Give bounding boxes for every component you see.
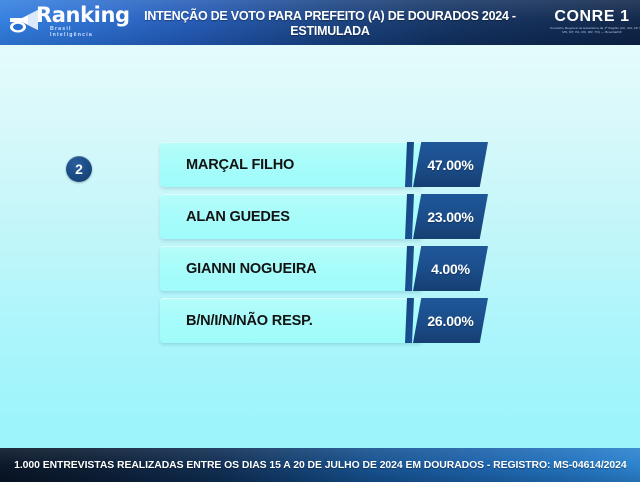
result-row[interactable]: GIANNI NOGUEIRA 4.00%: [160, 246, 488, 291]
page-title: INTENÇÃO DE VOTO PARA PREFEITO (A) DE DO…: [124, 0, 537, 45]
percentage-box: 26.00%: [413, 298, 488, 343]
candidate-name: B/N/I/N/NÃO RESP.: [186, 312, 313, 329]
footer-bar: 1.000 ENTREVISTAS REALIZADAS ENTRE OS DI…: [0, 448, 640, 482]
candidate-label-box: GIANNI NOGUEIRA: [160, 246, 422, 291]
conre-subtitle-line-2: MS, MT, PA, RO, RR, TO) — Brasília/DF: [550, 30, 634, 34]
percentage-box: 23.00%: [413, 194, 488, 239]
poll-result-card: Ranking Brasil Inteligência INTENÇÃO DE …: [0, 0, 640, 482]
logo-tagline-text: Brasil Inteligência: [50, 26, 116, 38]
rank-badge: 2: [66, 156, 92, 182]
candidate-name: MARÇAL FILHO: [186, 156, 294, 173]
percentage-value: 23.00%: [427, 209, 473, 225]
footer-text: 1.000 ENTREVISTAS REALIZADAS ENTRE OS DI…: [14, 459, 627, 471]
logo-brand-text: Ranking: [36, 5, 130, 26]
candidate-label-box: ALAN GUEDES: [160, 194, 422, 239]
percentage-value: 47.00%: [427, 157, 473, 173]
ranking-logo: Ranking Brasil Inteligência: [8, 6, 116, 40]
percentage-box: 47.00%: [413, 142, 488, 187]
percentage-value: 26.00%: [427, 313, 473, 329]
percentage-box: 4.00%: [413, 246, 488, 291]
candidate-label-box: B/N/I/N/NÃO RESP.: [160, 298, 422, 343]
percentage-value: 4.00%: [431, 261, 470, 277]
result-row[interactable]: MARÇAL FILHO 47.00%: [160, 142, 488, 187]
candidate-label-box: MARÇAL FILHO: [160, 142, 422, 187]
result-row[interactable]: B/N/I/N/NÃO RESP. 26.00%: [160, 298, 488, 343]
candidate-name: ALAN GUEDES: [186, 208, 290, 225]
results-list: MARÇAL FILHO 47.00% ALAN GUEDES 23.00% G…: [160, 142, 490, 350]
conre-logo-text: CONRE 1: [550, 8, 634, 25]
result-row[interactable]: ALAN GUEDES 23.00%: [160, 194, 488, 239]
candidate-name: GIANNI NOGUEIRA: [186, 260, 316, 277]
conre-logo-subtitle: Conselho Regional de Estatística da 1ª R…: [550, 26, 634, 34]
header-bar: Ranking Brasil Inteligência INTENÇÃO DE …: [0, 0, 640, 45]
conre-logo: CONRE 1 Conselho Regional de Estatística…: [550, 8, 634, 38]
